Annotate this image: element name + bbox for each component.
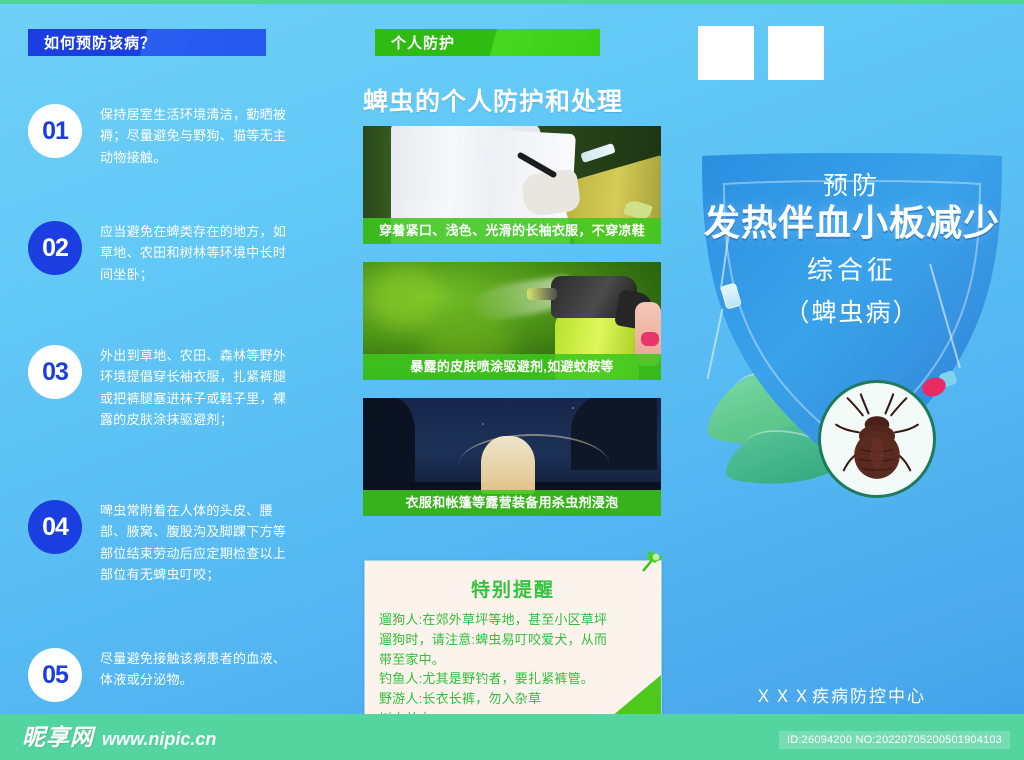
note-title: 特别提醒 bbox=[365, 575, 661, 602]
note-line: 野游人:长衣长裤，勿入杂草 bbox=[379, 689, 649, 709]
note-line: 钓鱼人:尤其是野钓者，要扎紧裤管。 bbox=[379, 669, 649, 689]
photo-caption: 暴露的皮肤喷涂驱避剂,如避蚊胺等 bbox=[363, 354, 661, 380]
note-body: 遛狗人:在郊外草坪等地，甚至小区草坪 遛狗时，请注意:蜱虫易叮咬爱犬，从而 带至… bbox=[365, 602, 661, 729]
step-text: 尽量避免接触该病患者的血液、体液或分泌物。 bbox=[100, 648, 290, 691]
shield-subtitle: 综合征 bbox=[807, 250, 897, 287]
note-line: 遛狗人:在郊外草坪等地，甚至小区草坪 bbox=[379, 610, 649, 630]
blank-placeholder-box bbox=[768, 26, 824, 80]
step-number-badge: 03 bbox=[28, 345, 82, 399]
step-text: 应当避免在蜱类存在的地方，如草地、农田和树林等环境中长时间坐卧； bbox=[100, 221, 290, 285]
photo-spray-bottle: 暴露的皮肤喷涂驱避剂,如避蚊胺等 bbox=[363, 262, 661, 380]
tick-icon bbox=[821, 383, 933, 495]
pushpin-icon bbox=[637, 547, 667, 577]
middle-title: 蜱虫的个人防护和处理 bbox=[363, 82, 683, 118]
shield-alt-name: （蜱虫病） bbox=[784, 293, 919, 329]
prevention-step: 04 啤虫常附着在人体的头皮、腰部、腋窝、腹股沟及脚踝下方等部位结束劳动后应定期… bbox=[28, 500, 290, 586]
shield-main-title: 发热伴血小板减少 bbox=[704, 204, 1000, 242]
tick-badge bbox=[818, 380, 936, 498]
note-line: 遛狗时，请注意:蜱虫易叮咬爱犬，从而 bbox=[379, 630, 649, 650]
middle-section-header-label: 个人防护 bbox=[375, 32, 455, 53]
middle-section-header: 个人防护 bbox=[375, 29, 600, 56]
left-section-header-label: 如何预防该病？ bbox=[28, 32, 156, 53]
photo-caption: 穿着紧口、浅色、光滑的长袖衣服，不穿凉鞋 bbox=[363, 218, 661, 244]
blank-placeholder-box bbox=[698, 26, 754, 80]
watermark-logo: 昵享网 bbox=[22, 718, 94, 752]
watermark-url: www.nipic.cn bbox=[102, 729, 216, 750]
step-number-badge: 02 bbox=[28, 221, 82, 275]
prevention-step: 03 外出到草地、农田、森林等野外环境提倡穿长袖衣服，扎紧裤腿或把裤腿塞进袜子或… bbox=[28, 345, 290, 431]
footer-band: 昵享网 www.nipic.cn ID:26094200 NO:20220705… bbox=[0, 714, 1024, 760]
prevention-step: 02 应当避免在蜱类存在的地方，如草地、农田和树林等环境中长时间坐卧； bbox=[28, 221, 290, 285]
watermark: 昵享网 www.nipic.cn bbox=[22, 718, 216, 752]
poster-canvas: 如何预防该病？ 01 保持居室生活环境清洁，勤晒被褥；尽量避免与野狗、猫等无主动… bbox=[0, 0, 1024, 760]
note-line: 带至家中。 bbox=[379, 650, 649, 670]
photo-caption: 衣服和帐篷等露营装备用杀虫剂浸泡 bbox=[363, 490, 661, 516]
left-column: 如何预防该病？ 01 保持居室生活环境清洁，勤晒被褥；尽量避免与野狗、猫等无主动… bbox=[0, 0, 340, 714]
step-text: 外出到草地、农田、森林等野外环境提倡穿长袖衣服，扎紧裤腿或把裤腿塞进袜子或鞋子里… bbox=[100, 345, 290, 431]
organization-name: ＸＸＸ疾病防控中心 bbox=[755, 682, 926, 707]
photo-night-tent: 衣服和帐篷等露营装备用杀虫剂浸泡 bbox=[363, 398, 661, 516]
photo-doctor-clipboard: 穿着紧口、浅色、光滑的长袖衣服，不穿凉鞋 bbox=[363, 126, 661, 244]
step-number-badge: 04 bbox=[28, 500, 82, 554]
step-number-badge: 01 bbox=[28, 104, 82, 158]
image-id-chip: ID:26094200 NO:20220705200501904103 bbox=[779, 731, 1010, 749]
left-section-header: 如何预防该病？ bbox=[28, 29, 266, 56]
special-reminder-card: 特别提醒 遛狗人:在郊外草坪等地，甚至小区草坪 遛狗时，请注意:蜱虫易叮咬爱犬，… bbox=[364, 560, 662, 728]
step-text: 啤虫常附着在人体的头皮、腰部、腋窝、腹股沟及脚踝下方等部位结束劳动后应定期检查以… bbox=[100, 500, 290, 586]
prevention-step: 01 保持居室生活环境清洁，勤晒被褥；尽量避免与野狗、猫等无主动物接触。 bbox=[28, 104, 290, 168]
prevention-step: 05 尽量避免接触该病患者的血液、体液或分泌物。 bbox=[28, 648, 290, 702]
shield-pretitle: 预防 bbox=[823, 166, 881, 202]
step-number-badge: 05 bbox=[28, 648, 82, 702]
step-text: 保持居室生活环境清洁，勤晒被褥；尽量避免与野狗、猫等无主动物接触。 bbox=[100, 104, 290, 168]
